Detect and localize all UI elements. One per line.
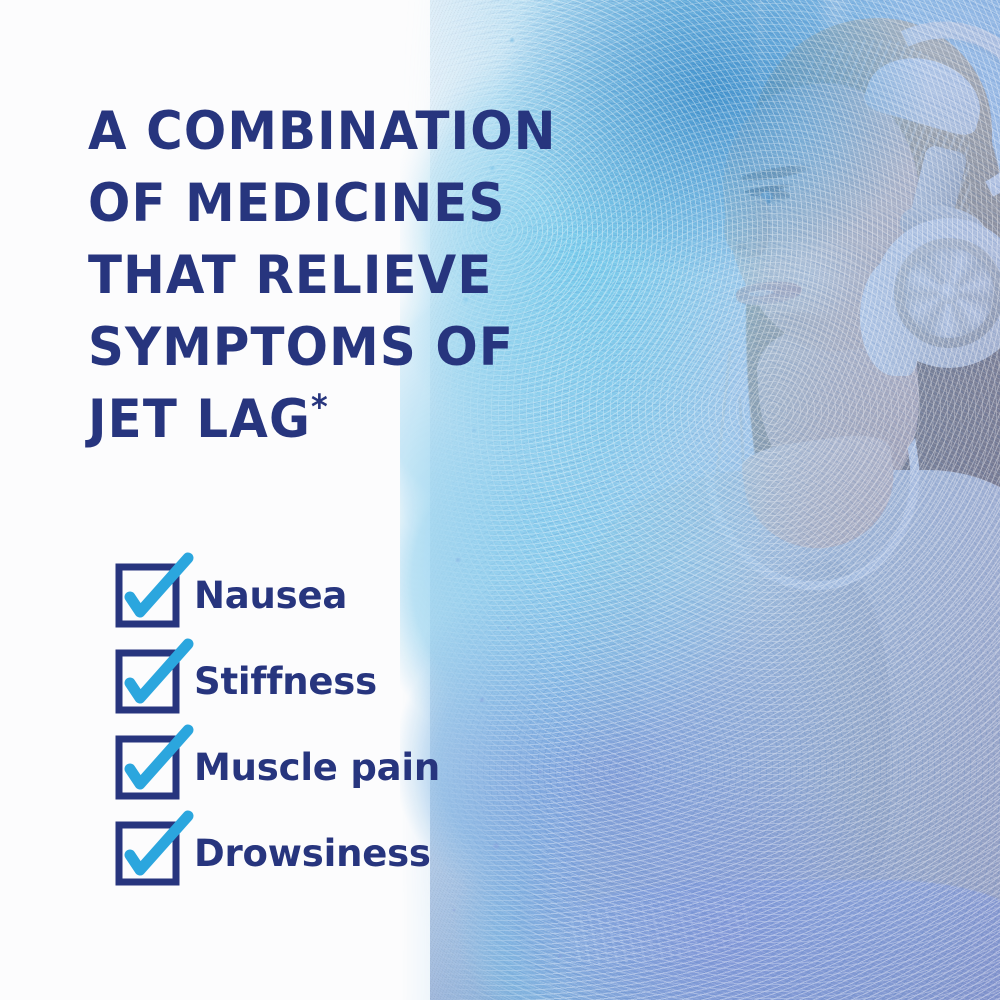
checkbox-checked-icon[interactable] xyxy=(118,738,176,796)
headline-line-5: JET LAG* xyxy=(88,384,464,456)
checkbox-checked-icon[interactable] xyxy=(118,566,176,624)
cheek-highlight xyxy=(760,236,870,322)
headline-line-5-text: JET LAG xyxy=(88,389,311,450)
checklist-item-label: Nausea xyxy=(194,574,347,617)
chin-shadow xyxy=(752,312,836,346)
nostril xyxy=(736,243,747,250)
footnote-asterisk: * xyxy=(311,387,329,427)
checklist-item-label: Muscle pain xyxy=(194,746,440,789)
checklist-item-label: Stiffness xyxy=(194,660,377,703)
checklist-item-muscle-pain[interactable]: Muscle pain xyxy=(118,724,478,810)
symptom-checklist: Nausea Stiffness xyxy=(118,552,478,896)
checkbox-checked-icon[interactable] xyxy=(118,652,176,710)
nose xyxy=(724,196,770,258)
headline-line-2: OF MEDICINES xyxy=(88,168,464,240)
jet-lag-ad-creative: A COMBINATION OF MEDICINES THAT RELIEVE … xyxy=(0,0,1000,1000)
checklist-item-drowsiness[interactable]: Drowsiness xyxy=(118,810,478,896)
checklist-item-label: Drowsiness xyxy=(194,832,431,875)
headphone-hub xyxy=(938,282,960,304)
checklist-item-nausea[interactable]: Nausea xyxy=(118,552,478,638)
headline-line-4: SYMPTOMS OF xyxy=(88,312,464,384)
checkbox-checked-icon[interactable] xyxy=(118,824,176,882)
headline-line-3: THAT RELIEVE xyxy=(88,240,464,312)
checklist-item-stiffness[interactable]: Stiffness xyxy=(118,638,478,724)
ad-content: A COMBINATION OF MEDICINES THAT RELIEVE … xyxy=(0,0,470,1000)
headline-line-1: A COMBINATION xyxy=(88,96,464,168)
headline: A COMBINATION OF MEDICINES THAT RELIEVE … xyxy=(88,96,488,456)
